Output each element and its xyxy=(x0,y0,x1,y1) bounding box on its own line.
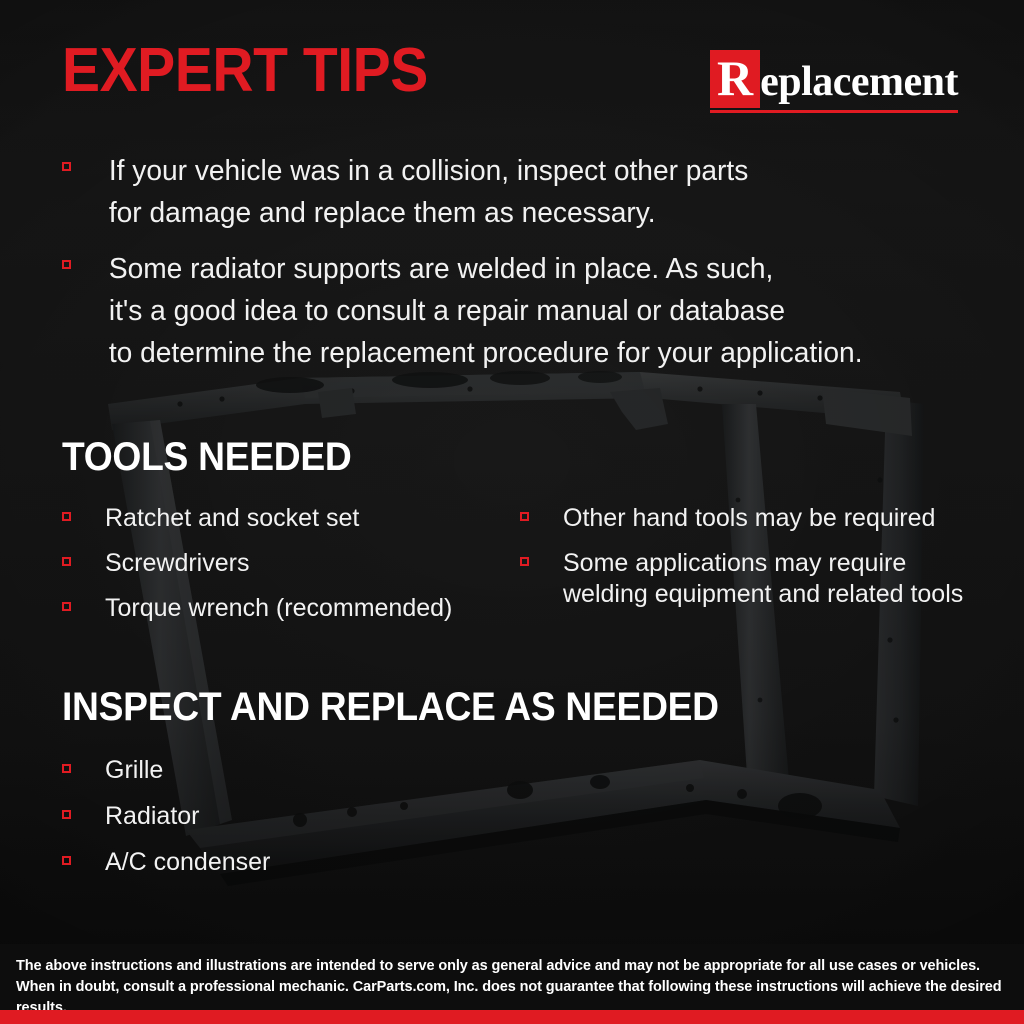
square-bullet-icon xyxy=(62,260,71,269)
tool-text: Other hand tools may be required xyxy=(529,503,935,534)
list-item: Other hand tools may be required xyxy=(520,503,972,534)
brand-logo-row: R eplacement xyxy=(710,50,958,108)
tool-text: Ratchet and socket set xyxy=(71,503,359,534)
list-item: Grille xyxy=(62,755,562,785)
brand-logo: R eplacement xyxy=(710,50,958,113)
footer-accent-bar xyxy=(0,1010,1024,1024)
list-item: Torque wrench (recommended) xyxy=(62,593,514,624)
square-bullet-icon xyxy=(62,557,71,566)
tools-needed-list: Ratchet and socket set Screwdrivers Torq… xyxy=(62,503,972,638)
brand-logo-word: eplacement xyxy=(760,61,958,108)
tools-right-column: Other hand tools may be required Some ap… xyxy=(514,503,972,638)
inspect-text: A/C condenser xyxy=(71,847,270,877)
tool-text: Screwdrivers xyxy=(71,548,249,579)
square-bullet-icon xyxy=(62,602,71,611)
list-item: Ratchet and socket set xyxy=(62,503,514,534)
inspect-text: Grille xyxy=(71,755,163,785)
square-bullet-icon xyxy=(62,810,71,819)
list-item: Radiator xyxy=(62,801,562,831)
tip-text: If your vehicle was in a collision, insp… xyxy=(71,150,748,234)
header: EXPERT TIPS R eplacement xyxy=(0,0,1024,132)
page-title: EXPERT TIPS xyxy=(62,40,428,102)
footer: The above instructions and illustrations… xyxy=(0,944,1024,1010)
brand-logo-underline xyxy=(710,110,958,113)
list-item: A/C condenser xyxy=(62,847,562,877)
list-item: Some radiator supports are welded in pla… xyxy=(62,248,962,374)
tool-text: Torque wrench (recommended) xyxy=(71,593,452,624)
inspect-text: Radiator xyxy=(71,801,200,831)
inspect-replace-list: Grille Radiator A/C condenser xyxy=(62,755,562,893)
square-bullet-icon xyxy=(62,512,71,521)
inspect-replace-heading: INSPECT AND REPLACE AS NEEDED xyxy=(62,687,719,727)
tools-left-column: Ratchet and socket set Screwdrivers Torq… xyxy=(62,503,514,638)
expert-tips-infographic: EXPERT TIPS R eplacement If your vehicle… xyxy=(0,0,1024,1024)
tip-text: Some radiator supports are welded in pla… xyxy=(71,248,863,374)
list-item: Some applications may require welding eq… xyxy=(520,548,972,610)
square-bullet-icon xyxy=(62,856,71,865)
square-bullet-icon xyxy=(62,764,71,773)
tool-text: Some applications may require welding eq… xyxy=(529,548,963,610)
square-bullet-icon xyxy=(520,512,529,521)
square-bullet-icon xyxy=(520,557,529,566)
tools-needed-heading: TOOLS NEEDED xyxy=(62,437,351,477)
expert-tips-list: If your vehicle was in a collision, insp… xyxy=(62,150,962,388)
square-bullet-icon xyxy=(62,162,71,171)
brand-logo-mark: R xyxy=(710,50,760,108)
list-item: If your vehicle was in a collision, insp… xyxy=(62,150,962,234)
list-item: Screwdrivers xyxy=(62,548,514,579)
